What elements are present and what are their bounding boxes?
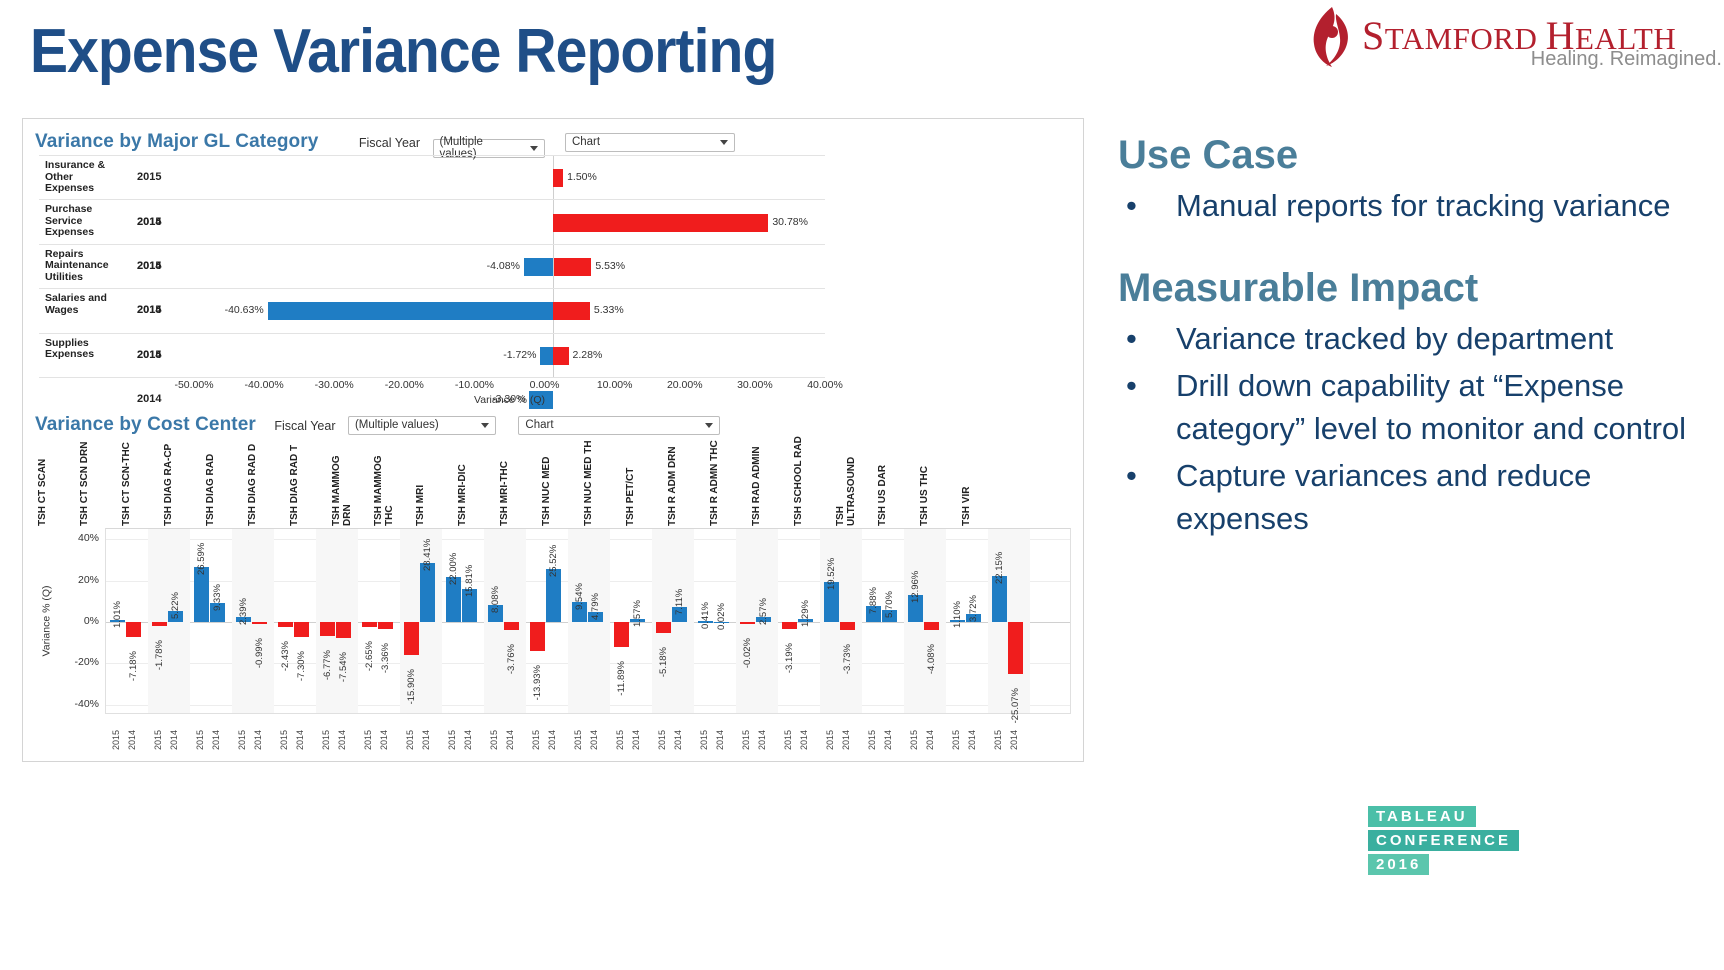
flame-logo-icon xyxy=(1302,6,1358,68)
cc-bar-value: -2.65% xyxy=(364,641,375,671)
gl-axis-tick: 10.00% xyxy=(597,379,633,391)
cc-year-tick: 2015 xyxy=(363,730,373,750)
cc-bar-value: -6.77% xyxy=(322,650,333,680)
cc-year-tick: 2014 xyxy=(673,730,683,750)
cc-bar-value: -3.19% xyxy=(784,643,795,673)
cc-bar[interactable] xyxy=(1008,622,1023,674)
cc-year-tick: 2015 xyxy=(111,730,121,750)
use-case-heading: Use Case xyxy=(1118,132,1708,178)
tableau-conference-logo: TABLEAU CONFERENCE 2016 xyxy=(1368,806,1540,878)
cc-year-tick: 2014 xyxy=(925,730,935,750)
cc-bar-value: -2.43% xyxy=(280,641,291,671)
gl-zero-line xyxy=(553,245,554,288)
cc-year-tick: 2015 xyxy=(615,730,625,750)
cc-year-tick: 2014 xyxy=(211,730,221,750)
gl-bar[interactable] xyxy=(553,347,569,365)
gl-bar[interactable] xyxy=(553,302,590,320)
cc-year-tick: 2015 xyxy=(405,730,415,750)
gl-chart-grid: Insurance & Other Expenses201520141.50%8… xyxy=(39,155,825,377)
cc-bar-value: -5.18% xyxy=(658,647,669,677)
gl-row-plot: 1.50%8.19% xyxy=(202,156,825,199)
cc-bar[interactable] xyxy=(320,622,335,636)
cc-bar-value: 25.52% xyxy=(548,545,559,577)
cc-bar-value: 26.59% xyxy=(196,543,207,575)
cc-bar[interactable] xyxy=(378,622,393,629)
measurable-impact-heading: Measurable Impact xyxy=(1118,265,1708,311)
cc-y-tick: 0% xyxy=(84,615,99,627)
cc-bar-value: -11.89% xyxy=(616,661,627,696)
cc-bar-value: 19.52% xyxy=(826,557,837,589)
bullet-icon: • xyxy=(1118,317,1176,360)
gl-axis-tick: -10.00% xyxy=(455,379,494,391)
panel-bullet-item: •Manual reports for tracking variance xyxy=(1118,184,1708,227)
bullet-icon: • xyxy=(1118,454,1176,540)
tc-line-year: 2016 xyxy=(1368,854,1429,875)
cc-bar[interactable] xyxy=(252,622,267,624)
cc-year-tick: 2014 xyxy=(547,730,557,750)
cc-bar-value: 22.15% xyxy=(994,552,1005,584)
cc-bar[interactable] xyxy=(152,622,167,626)
cc-year-tick: 2015 xyxy=(867,730,877,750)
cc-year-tick: 2015 xyxy=(531,730,541,750)
panel-bullet-item: •Drill down capability at “Expense categ… xyxy=(1118,364,1708,450)
cc-year-tick: 2014 xyxy=(379,730,389,750)
gl-x-axis: Variance % (Q) -50.00%-40.00%-30.00%-20.… xyxy=(194,379,825,409)
cc-bar-value: 3.72% xyxy=(968,595,979,622)
cc-bar-value: 9.54% xyxy=(574,583,585,610)
cc-year-tick: 2015 xyxy=(951,730,961,750)
cc-bar-value: 15.81% xyxy=(464,565,475,597)
cc-year-tick: 2015 xyxy=(447,730,457,750)
gl-category-group: Purchase Service Expenses2015201430.78%5… xyxy=(39,200,825,244)
gl-category-group: Supplies Expenses201520142.28%-3.30% xyxy=(39,334,825,378)
gl-row-plot: 2.28%-3.30% xyxy=(202,334,825,377)
cc-view-dropdown[interactable]: Chart xyxy=(518,416,720,435)
cc-year-tick: 2015 xyxy=(153,730,163,750)
cc-year-tick: 2014 xyxy=(295,730,305,750)
cc-bar[interactable] xyxy=(504,622,519,630)
cc-bar-value: -13.93% xyxy=(532,665,543,700)
cc-bar[interactable] xyxy=(614,622,629,647)
panel-bullet-text: Manual reports for tracking variance xyxy=(1176,184,1708,227)
variance-by-cost-center-viz: Variance by Cost Center Fiscal Year (Mul… xyxy=(31,412,1077,757)
chevron-down-icon xyxy=(530,146,538,151)
cc-year-tick: 2014 xyxy=(337,730,347,750)
panel-bullet-text: Drill down capability at “Expense catego… xyxy=(1176,364,1708,450)
gl-viz-title: Variance by Major GL Category xyxy=(35,131,318,152)
cc-bar-value: -3.36% xyxy=(380,643,391,673)
gl-row-plot: 30.78%5.53% xyxy=(202,200,825,243)
brand-tamford: TAMFORD xyxy=(1385,21,1546,56)
cc-year-tick: 2014 xyxy=(505,730,515,750)
cc-y-axis: 40%20%0%-20%-40% xyxy=(55,528,103,714)
cc-bar[interactable] xyxy=(782,622,797,629)
gl-axis-tick: 40.00% xyxy=(807,379,843,391)
cc-year-tick: 2014 xyxy=(169,730,179,750)
cc-year-tick: 2015 xyxy=(195,730,205,750)
cc-bar-value: 2.39% xyxy=(238,598,249,625)
stamford-health-logo: STAMFORD HEALTH Healing. Reimagined. xyxy=(1302,6,1722,72)
cc-bar-value: 5.22% xyxy=(170,592,181,619)
gl-filter-label: Fiscal Year xyxy=(359,136,420,150)
cc-year-labels: 2015201420152014201520142015201420152014… xyxy=(105,716,1071,752)
cc-year-tick: 2015 xyxy=(741,730,751,750)
cc-year-tick: 2014 xyxy=(799,730,809,750)
gl-bar-value: -4.08% xyxy=(487,260,520,272)
cc-bar-value: -0.02% xyxy=(742,638,753,668)
gl-axis-tick: 20.00% xyxy=(667,379,703,391)
gl-row-plot: 5.33%-1.72% xyxy=(202,289,825,332)
cc-bar[interactable] xyxy=(924,622,939,630)
cc-year-tick: 2014 xyxy=(883,730,893,750)
cc-bar-value: -3.73% xyxy=(842,644,853,674)
cc-year-tick: 2014 xyxy=(589,730,599,750)
gl-category-label: Repairs Maintenance Utilities xyxy=(45,249,115,284)
gl-category-group: Repairs Maintenance Utilities20152014-4.… xyxy=(39,245,825,289)
cc-bar-value: 0.02% xyxy=(716,603,727,630)
cc-bar[interactable] xyxy=(656,622,671,633)
cc-bar-value: 7.88% xyxy=(868,587,879,614)
notes-panel: Use Case •Manual reports for tracking va… xyxy=(1118,132,1708,540)
cc-year-tick: 2015 xyxy=(909,730,919,750)
gl-year-label: 2015 xyxy=(137,349,161,361)
cc-bar[interactable] xyxy=(194,567,209,622)
cc-year-tick: 2014 xyxy=(631,730,641,750)
cc-category-band xyxy=(316,529,358,713)
cc-bar-value: 7.11% xyxy=(674,589,685,615)
cc-bar[interactable] xyxy=(840,622,855,630)
cc-y-tick: 40% xyxy=(78,532,99,544)
cc-year-tick: 2015 xyxy=(699,730,709,750)
panel-bullet-text: Capture variances and reduce expenses xyxy=(1176,454,1708,540)
cc-bar[interactable] xyxy=(546,569,561,622)
cc-bar-value: -4.08% xyxy=(926,644,937,674)
cc-bar-value: 1.01% xyxy=(112,601,123,628)
gl-bar-value: 30.78% xyxy=(772,216,808,228)
cc-y-tick: -40% xyxy=(74,698,99,710)
cc-category-label: TSH VIR xyxy=(962,434,1054,526)
cc-bar[interactable] xyxy=(530,622,545,651)
cc-bar-value: 2.57% xyxy=(758,598,769,625)
cc-bar-value: 9.33% xyxy=(212,584,223,611)
panel-bullet-item: •Capture variances and reduce expenses xyxy=(1118,454,1708,540)
cc-year-tick: 2014 xyxy=(715,730,725,750)
gl-axis-tick: -20.00% xyxy=(385,379,424,391)
cc-category-labels: TSH CT SCANTSH CT SCN DRNTSH CT SCN-THCT… xyxy=(105,434,1071,526)
cc-year-tick: 2014 xyxy=(1009,730,1019,750)
gl-axis-tick: -30.00% xyxy=(315,379,354,391)
gl-bar-value: 2.28% xyxy=(573,349,603,361)
cc-year-tick: 2014 xyxy=(253,730,263,750)
cc-bar-value: 1.57% xyxy=(632,600,643,627)
bullet-icon: • xyxy=(1118,364,1176,450)
panel-bullet-item: •Variance tracked by department xyxy=(1118,317,1708,360)
logo-tagline: Healing. Reimagined. xyxy=(1531,48,1722,71)
cc-y-tick: 20% xyxy=(78,574,99,586)
cc-bar-value: 1.29% xyxy=(800,600,811,627)
cc-y-tick: -20% xyxy=(74,656,99,668)
cc-bar-value: -0.99% xyxy=(254,638,265,668)
cc-bar-value: 8.08% xyxy=(490,586,501,613)
gl-category-group: Salaries and Wages201520145.33%-1.72% xyxy=(39,289,825,333)
chevron-down-icon xyxy=(481,423,489,428)
cc-year-tick: 2015 xyxy=(783,730,793,750)
brand-s: S xyxy=(1362,13,1385,58)
cc-bar[interactable] xyxy=(740,622,755,624)
gl-axis-tick: -50.00% xyxy=(174,379,213,391)
chevron-down-icon xyxy=(705,423,713,428)
cc-bar-value: 1.10% xyxy=(952,601,963,628)
bullet-icon: • xyxy=(1118,184,1176,227)
gl-axis-tick: -40.00% xyxy=(245,379,284,391)
tc-line-conference: CONFERENCE xyxy=(1368,830,1519,851)
gl-year-label: 2014 xyxy=(137,393,161,405)
cc-year-tick: 2015 xyxy=(993,730,1003,750)
cc-bar-value: 22.00% xyxy=(448,552,459,584)
cc-bar-value: -7.30% xyxy=(296,651,307,681)
cc-fiscal-year-value: (Multiple values) xyxy=(355,419,439,431)
cc-filter-label: Fiscal Year xyxy=(274,419,335,433)
gl-year-label: 2015 xyxy=(137,304,161,316)
panel-bullet-text: Variance tracked by department xyxy=(1176,317,1708,360)
gl-category-group: Insurance & Other Expenses201520141.50%8… xyxy=(39,156,825,200)
cc-viz-title: Variance by Cost Center xyxy=(35,414,256,435)
cc-bar-value: 4.79% xyxy=(590,593,601,620)
gl-axis-tick: 30.00% xyxy=(737,379,773,391)
gl-bar-value: 1.50% xyxy=(567,171,597,183)
gl-view-dropdown[interactable]: Chart xyxy=(565,133,735,152)
gl-axis-title: Variance % (Q) xyxy=(474,394,545,406)
gl-bar[interactable] xyxy=(553,214,769,232)
cc-bar-value: 5.70% xyxy=(884,591,895,618)
gl-header: Variance by Major GL Category Fiscal Yea… xyxy=(35,131,1081,157)
cc-bar-value: -3.76% xyxy=(506,644,517,674)
gl-bar-value: 5.33% xyxy=(594,304,624,316)
use-case-list: •Manual reports for tracking variance xyxy=(1118,184,1708,227)
cc-year-tick: 2014 xyxy=(757,730,767,750)
gl-view-value: Chart xyxy=(572,136,600,148)
gl-axis-tick: 0.00% xyxy=(530,379,560,391)
gl-category-label: Purchase Service Expenses xyxy=(45,204,115,239)
gl-bar[interactable] xyxy=(524,258,553,276)
page-title: Expense Variance Reporting xyxy=(30,16,776,87)
gl-bar[interactable] xyxy=(553,169,564,187)
cc-year-tick: 2015 xyxy=(237,730,247,750)
cc-bar[interactable] xyxy=(126,622,141,637)
cc-bar[interactable] xyxy=(294,622,309,637)
cc-fiscal-year-dropdown[interactable]: (Multiple values) xyxy=(348,416,496,435)
cc-bar-value: 28.41% xyxy=(422,539,433,571)
cc-year-tick: 2015 xyxy=(489,730,499,750)
cc-y-axis-title: Variance % (Q) xyxy=(39,528,53,714)
gl-year-label: 2015 xyxy=(137,171,161,183)
gl-category-label: Salaries and Wages xyxy=(45,293,115,316)
cc-bar[interactable] xyxy=(420,563,435,622)
cc-bar-value: -15.90% xyxy=(406,669,417,704)
cc-year-tick: 2015 xyxy=(825,730,835,750)
tc-line-tableau: TABLEAU xyxy=(1368,806,1476,827)
gl-row-plot: -4.08%-40.63% xyxy=(202,245,825,288)
cc-year-tick: 2014 xyxy=(127,730,137,750)
gl-year-label: 2015 xyxy=(137,216,161,228)
cc-bar[interactable] xyxy=(336,622,351,638)
measurable-impact-list: •Variance tracked by department•Drill do… xyxy=(1118,317,1708,540)
cc-bar[interactable] xyxy=(404,622,419,655)
cc-year-tick: 2014 xyxy=(841,730,851,750)
cc-bar-value: -7.18% xyxy=(128,651,139,681)
cc-year-tick: 2015 xyxy=(321,730,331,750)
gl-year-label: 2015 xyxy=(137,260,161,272)
cc-bar-value: -7.54% xyxy=(338,652,349,682)
cc-bar[interactable] xyxy=(362,622,377,627)
cc-bar-value: -1.78% xyxy=(154,640,165,670)
gl-category-label: Insurance & Other Expenses xyxy=(45,160,115,195)
cc-year-tick: 2015 xyxy=(279,730,289,750)
chevron-down-icon xyxy=(720,140,728,145)
cc-bar[interactable] xyxy=(278,622,293,627)
cc-year-tick: 2014 xyxy=(463,730,473,750)
tableau-dashboard: Variance by Major GL Category Fiscal Yea… xyxy=(22,118,1084,762)
cc-year-tick: 2014 xyxy=(421,730,431,750)
cc-bar-value: 12.96% xyxy=(910,571,921,603)
cc-year-tick: 2015 xyxy=(573,730,583,750)
cc-view-value: Chart xyxy=(525,419,553,431)
cc-bar-value: 0.41% xyxy=(700,602,711,629)
cc-year-tick: 2015 xyxy=(657,730,667,750)
variance-by-gl-category-viz: Variance by Major GL Category Fiscal Yea… xyxy=(31,127,1077,412)
gl-category-label: Supplies Expenses xyxy=(45,338,115,361)
cc-year-tick: 2014 xyxy=(967,730,977,750)
cc-plot-area: 1.01%-7.18%-1.78%5.22%26.59%9.33%2.39%-0… xyxy=(105,528,1071,714)
